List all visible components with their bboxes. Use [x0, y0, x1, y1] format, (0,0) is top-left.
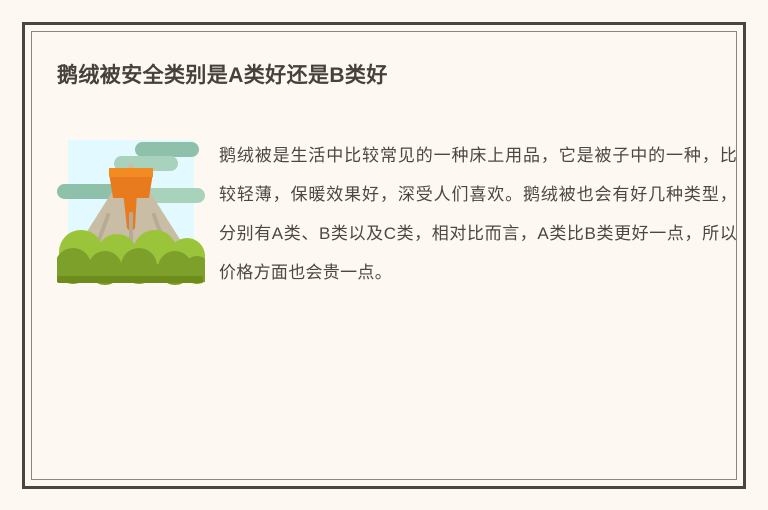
article-body-block: 鹅绒被是生活中比较常见的一种床上用品，它是被子中的一种，比较轻薄，保暖效果好，深… — [57, 136, 737, 292]
page-title: 鹅绒被安全类别是A类好还是B类好 — [57, 61, 717, 91]
article-content: 鹅绒被安全类别是A类好还是B类好 — [31, 31, 737, 480]
volcano-illustration — [57, 140, 205, 285]
article-page: 鹅绒被安全类别是A类好还是B类好 — [0, 0, 768, 510]
